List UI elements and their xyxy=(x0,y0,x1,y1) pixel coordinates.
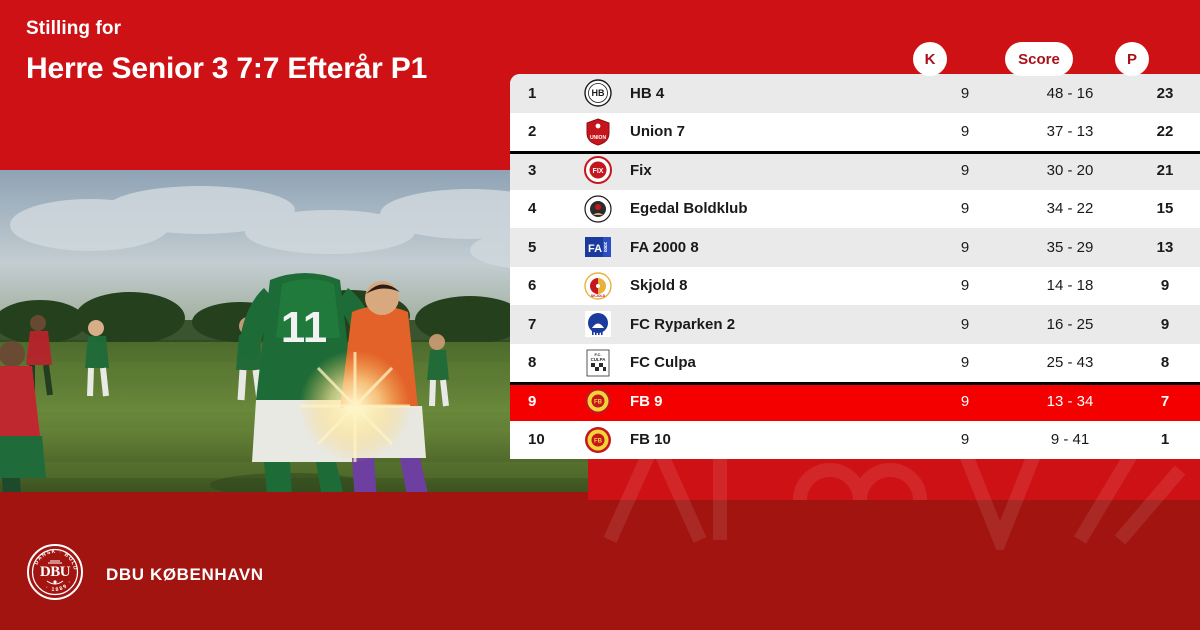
row-team-name: HB 4 xyxy=(624,85,920,102)
footer: DANSK · BOLDSPIL · UNION · 1889 · DBU DB… xyxy=(26,543,264,606)
row-played: 9 xyxy=(920,431,1010,448)
row-team-name: FB 10 xyxy=(624,431,920,448)
svg-text:· 1889 ·: · 1889 · xyxy=(44,579,73,594)
row-points: 21 xyxy=(1130,162,1200,179)
row-team-name: FA 2000 8 xyxy=(624,239,920,256)
row-team-name: Egedal Boldklub xyxy=(624,200,920,217)
row-score: 37 - 13 xyxy=(1010,123,1130,140)
column-badge-played: K xyxy=(913,42,947,76)
ryparken-crest xyxy=(572,310,624,338)
football-match-photo: 11 xyxy=(0,170,588,492)
row-points: 15 xyxy=(1130,200,1200,217)
row-team-name: FC Culpa xyxy=(624,354,920,371)
dbu-logo: DANSK · BOLDSPIL · UNION · 1889 · DBU xyxy=(26,543,84,606)
row-rank: 4 xyxy=(510,200,572,217)
row-points: 9 xyxy=(1130,316,1200,333)
row-points: 9 xyxy=(1130,277,1200,294)
row-points: 7 xyxy=(1130,393,1200,410)
svg-text:CULPA: CULPA xyxy=(591,357,607,362)
row-rank: 10 xyxy=(510,431,572,448)
table-row[interactable]: 5FA2000FA 2000 8935 - 2913 xyxy=(510,228,1200,267)
poster-canvas: Stilling for Herre Senior 3 7:7 Efterår … xyxy=(0,0,1200,630)
svg-text:FIX: FIX xyxy=(593,168,604,175)
table-row[interactable]: 7FC Ryparken 2916 - 259 xyxy=(510,305,1200,344)
row-played: 9 xyxy=(920,239,1010,256)
row-score: 48 - 16 xyxy=(1010,85,1130,102)
row-played: 9 xyxy=(920,316,1010,333)
row-played: 9 xyxy=(920,393,1010,410)
table-row[interactable]: 4Egedal Boldklub934 - 2215 xyxy=(510,190,1200,229)
row-rank: 3 xyxy=(510,162,572,179)
fb-crest: FB xyxy=(572,387,624,415)
row-rank: 1 xyxy=(510,85,572,102)
row-played: 9 xyxy=(920,354,1010,371)
hb-crest: HB xyxy=(572,79,624,107)
row-rank: 9 xyxy=(510,393,572,410)
row-team-name: Fix xyxy=(624,162,920,179)
row-played: 9 xyxy=(920,123,1010,140)
row-team-name: FC Ryparken 2 xyxy=(624,316,920,333)
row-score: 34 - 22 xyxy=(1010,200,1130,217)
column-badge-score: Score xyxy=(1005,42,1073,76)
union-crest: UNION xyxy=(572,118,624,146)
row-rank: 5 xyxy=(510,239,572,256)
organisation-name: DBU KØBENHAVN xyxy=(106,565,264,585)
row-played: 9 xyxy=(920,162,1010,179)
row-score: 16 - 25 xyxy=(1010,316,1130,333)
fix-crest: FIX xyxy=(572,156,624,184)
row-rank: 2 xyxy=(510,123,572,140)
svg-text:FA: FA xyxy=(588,243,602,255)
column-badge-points: P xyxy=(1115,42,1149,76)
row-rank: 6 xyxy=(510,277,572,294)
row-team-name: Union 7 xyxy=(624,123,920,140)
svg-text:HB: HB xyxy=(592,88,605,98)
row-played: 9 xyxy=(920,277,1010,294)
row-points: 8 xyxy=(1130,354,1200,371)
culpa-crest: F.C.CULPA xyxy=(572,349,624,377)
table-row[interactable]: 8F.C.CULPAFC Culpa925 - 438 xyxy=(510,344,1200,383)
row-score: 14 - 18 xyxy=(1010,277,1130,294)
row-points: 13 xyxy=(1130,239,1200,256)
row-played: 9 xyxy=(920,200,1010,217)
row-score: 35 - 29 xyxy=(1010,239,1130,256)
table-row[interactable]: 1HBHB 4948 - 1623 xyxy=(510,74,1200,113)
header-kicker: Stilling for xyxy=(26,18,496,41)
row-points: 1 xyxy=(1130,431,1200,448)
svg-text:FB: FB xyxy=(594,400,603,406)
fb-crest: FB xyxy=(572,426,624,454)
row-score: 13 - 34 xyxy=(1010,393,1130,410)
skjold-crest: SKJOLD xyxy=(572,272,624,300)
row-team-name: Skjold 8 xyxy=(624,277,920,294)
fa2000-crest: FA2000 xyxy=(572,233,624,261)
row-played: 9 xyxy=(920,85,1010,102)
row-points: 22 xyxy=(1130,123,1200,140)
row-score: 25 - 43 xyxy=(1010,354,1130,371)
row-rank: 8 xyxy=(510,354,572,371)
table-row[interactable]: 6SKJOLDSkjold 8914 - 189 xyxy=(510,267,1200,306)
svg-text:2000: 2000 xyxy=(603,242,608,253)
row-team-name: FB 9 xyxy=(624,393,920,410)
svg-text:UNION: UNION xyxy=(590,135,607,141)
standings-table: 1HBHB 4948 - 16232UNIONUnion 7937 - 1322… xyxy=(510,74,1200,459)
svg-text:DBU: DBU xyxy=(40,564,71,580)
table-row[interactable]: 9FBFB 9913 - 347 xyxy=(510,382,1200,421)
page-title: Herre Senior 3 7:7 Efterår P1 xyxy=(26,51,496,88)
row-score: 9 - 41 xyxy=(1010,431,1130,448)
row-points: 23 xyxy=(1130,85,1200,102)
row-score: 30 - 20 xyxy=(1010,162,1130,179)
egedal-crest xyxy=(572,195,624,223)
row-rank: 7 xyxy=(510,316,572,333)
table-row[interactable]: 10FBFB 1099 - 411 xyxy=(510,421,1200,460)
table-row[interactable]: 3FIXFix930 - 2021 xyxy=(510,151,1200,190)
table-row[interactable]: 2UNIONUnion 7937 - 1322 xyxy=(510,113,1200,152)
svg-text:11: 11 xyxy=(281,303,328,352)
poster-header: Stilling for Herre Senior 3 7:7 Efterår … xyxy=(26,18,496,87)
svg-text:FB: FB xyxy=(594,438,603,444)
svg-text:SKJOLD: SKJOLD xyxy=(591,294,606,298)
